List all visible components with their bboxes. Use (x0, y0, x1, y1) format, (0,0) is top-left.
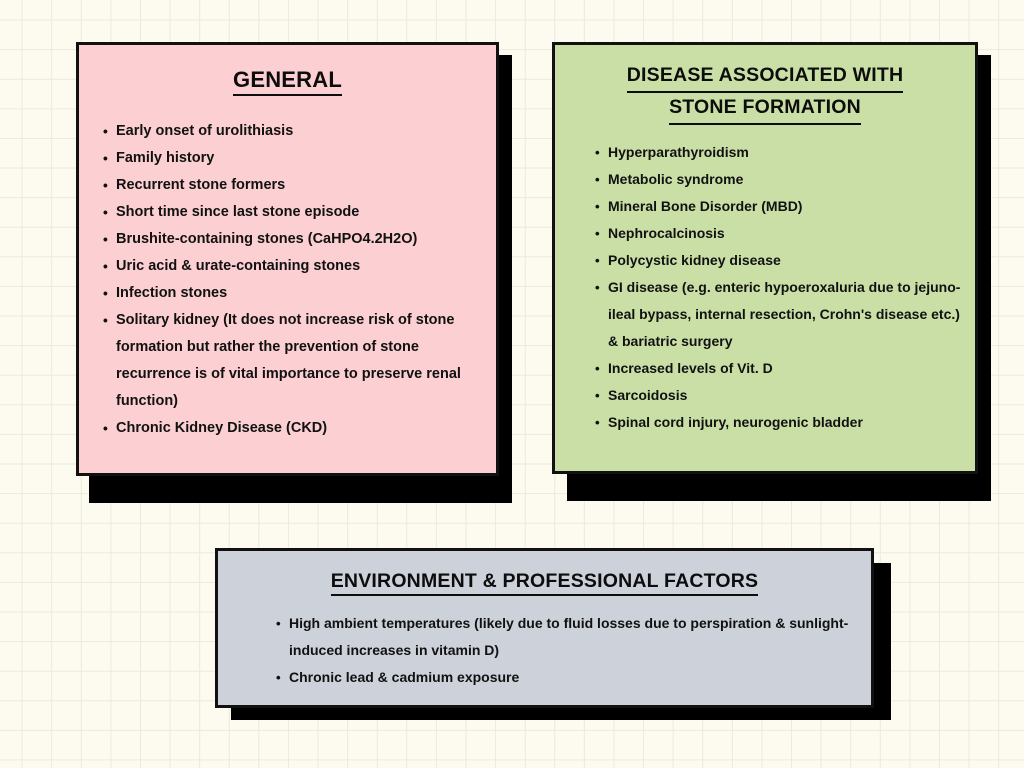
card-general-title: GENERAL (79, 67, 496, 96)
card-general: GENERAL Early onset of urolithiasis Fami… (76, 42, 499, 476)
card-disease-title: DISEASE ASSOCIATED WITH STONE FORMATION (555, 61, 975, 125)
list-item: Infection stones (116, 280, 478, 307)
card-disease-title-line2: STONE FORMATION (669, 93, 861, 125)
list-item: Recurrent stone formers (116, 172, 478, 199)
list-item: GI disease (e.g. enteric hypoeroxaluria … (608, 274, 961, 355)
list-item: Mineral Bone Disorder (MBD) (608, 193, 961, 220)
card-environment-title-text: ENVIRONMENT & PROFESSIONAL FACTORS (331, 569, 759, 596)
list-item: Polycystic kidney disease (608, 247, 961, 274)
card-disease-list: Hyperparathyroidism Metabolic syndrome M… (608, 139, 961, 436)
card-environment-list: High ambient temperatures (likely due to… (289, 610, 851, 691)
list-item: Solitary kidney (It does not increase ri… (116, 307, 478, 415)
list-item: Sarcoidosis (608, 382, 961, 409)
list-item: Short time since last stone episode (116, 199, 478, 226)
list-item: Spinal cord injury, neurogenic bladder (608, 409, 961, 436)
list-item: Chronic Kidney Disease (CKD) (116, 415, 478, 442)
list-item: Nephrocalcinosis (608, 220, 961, 247)
list-item: Family history (116, 145, 478, 172)
card-general-title-text: GENERAL (233, 67, 342, 96)
card-disease: DISEASE ASSOCIATED WITH STONE FORMATION … (552, 42, 978, 474)
list-item: Uric acid & urate-containing stones (116, 253, 478, 280)
list-item: Hyperparathyroidism (608, 139, 961, 166)
list-item: High ambient temperatures (likely due to… (289, 610, 851, 664)
list-item: Chronic lead & cadmium exposure (289, 664, 851, 691)
card-environment-title: ENVIRONMENT & PROFESSIONAL FACTORS (218, 569, 871, 596)
list-item: Increased levels of Vit. D (608, 355, 961, 382)
list-item: Brushite-containing stones (CaHPO4.2H2O) (116, 226, 478, 253)
list-item: Metabolic syndrome (608, 166, 961, 193)
card-environment: ENVIRONMENT & PROFESSIONAL FACTORS High … (215, 548, 874, 708)
card-general-list: Early onset of urolithiasis Family histo… (116, 118, 478, 442)
list-item: Early onset of urolithiasis (116, 118, 478, 145)
card-disease-title-line1: DISEASE ASSOCIATED WITH (627, 61, 904, 93)
